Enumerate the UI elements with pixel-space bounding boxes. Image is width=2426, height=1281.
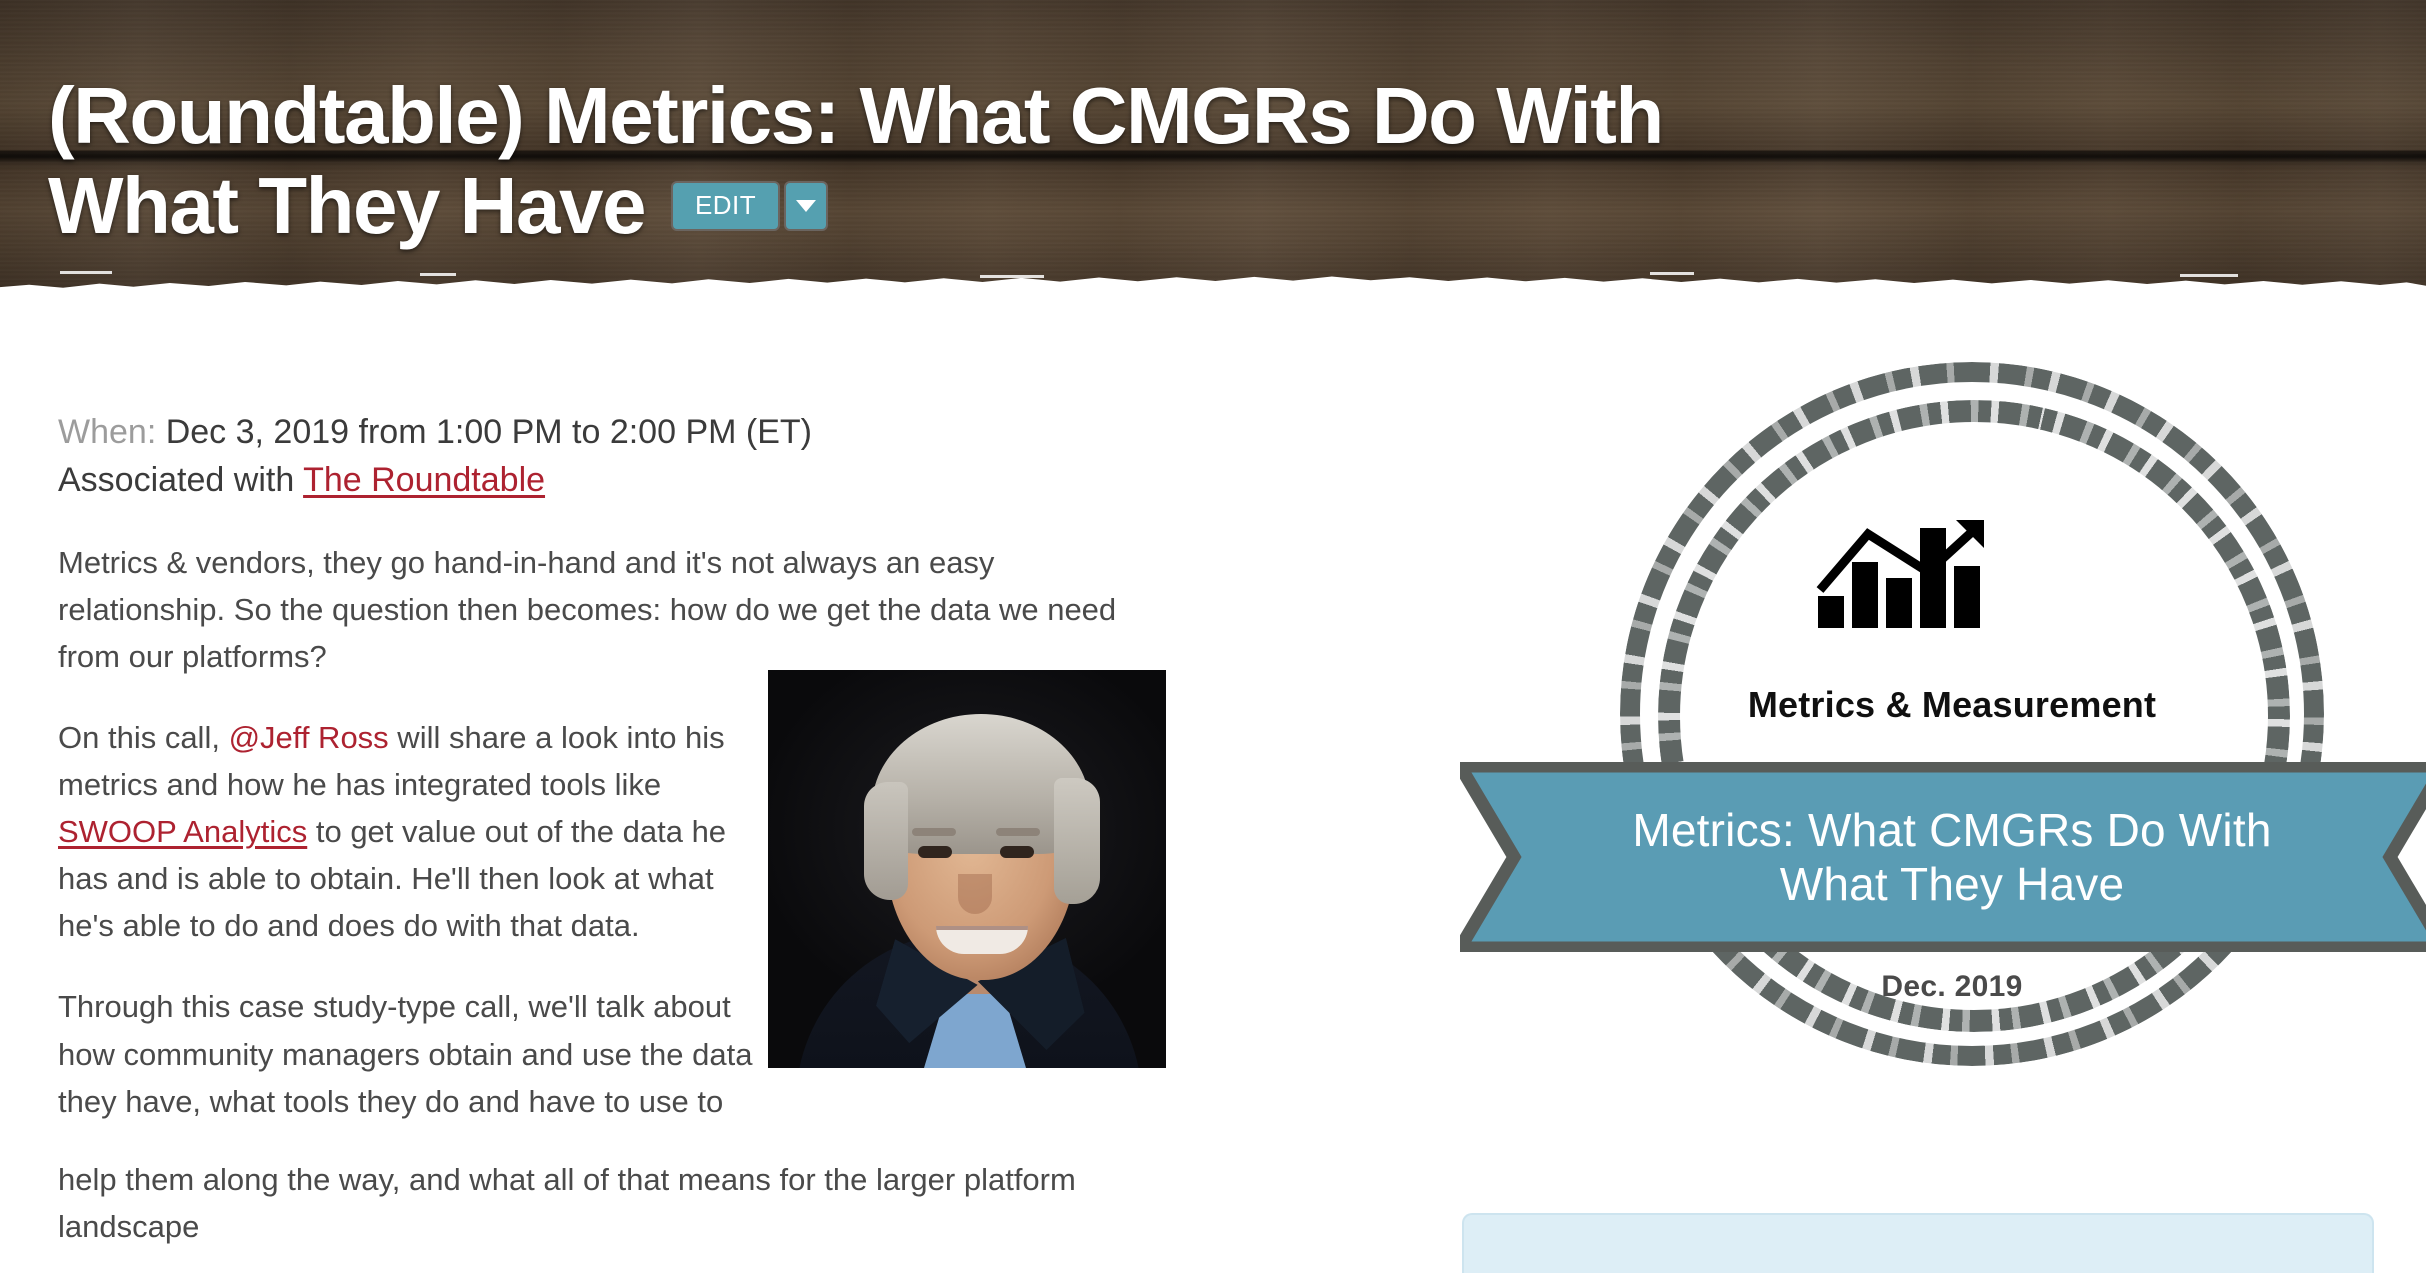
edit-button-group: EDIT — [671, 181, 828, 231]
torn-paper-edge — [0, 266, 2426, 300]
speaker-headshot-image — [768, 670, 1166, 1068]
description-paragraph-4: help them along the way, and what all of… — [58, 1156, 1168, 1250]
page-title-line-1: (Roundtable) Metrics: What CMGRs Do With — [48, 76, 2228, 156]
edit-dropdown-toggle[interactable] — [784, 181, 828, 231]
page-hero-banner: (Roundtable) Metrics: What CMGRs Do With… — [0, 0, 2426, 300]
bar-chart-growth-icon — [1816, 514, 1996, 630]
event-badge-graphic: Metrics & Measurement Metrics: What CMGR… — [1572, 362, 2332, 1152]
para2-text-a: On this call, — [58, 720, 229, 755]
headshot-brow-left — [912, 828, 956, 836]
event-when-label: When: — [58, 413, 156, 451]
page-title: (Roundtable) Metrics: What CMGRs Do With… — [48, 76, 2228, 246]
torn-speck — [420, 273, 456, 276]
bottom-info-panel[interactable] — [1462, 1213, 2374, 1273]
headshot-hair-right — [1054, 778, 1100, 904]
event-when-value: Dec 3, 2019 from 1:00 PM to 2:00 PM (ET) — [166, 413, 812, 451]
badge-date: Dec. 2019 — [1572, 970, 2332, 1004]
edit-button[interactable]: EDIT — [671, 181, 780, 231]
torn-speck — [980, 275, 1044, 278]
headshot-eye-left — [918, 846, 952, 858]
event-when-row: When: Dec 3, 2019 from 1:00 PM to 2:00 P… — [58, 408, 1178, 456]
torn-speck — [1650, 272, 1694, 275]
headshot-hair-left — [864, 782, 908, 900]
headshot-smile — [936, 926, 1028, 954]
description-paragraph-1: Metrics & vendors, they go hand-in-hand … — [58, 539, 1168, 680]
headshot-nose — [958, 874, 992, 914]
badge-ribbon-shape — [1460, 762, 2426, 952]
event-association-row: Associated with The Roundtable — [58, 456, 1178, 504]
torn-speck — [60, 271, 112, 274]
description-paragraph-2: On this call, @Jeff Ross will share a lo… — [58, 714, 758, 950]
badge-heading: Metrics & Measurement — [1572, 684, 2332, 726]
headshot-eye-right — [1000, 846, 1034, 858]
description-paragraph-3: Through this case study-type call, we'll… — [58, 983, 758, 1124]
speaker-mention-link[interactable]: @Jeff Ross — [229, 720, 389, 755]
chevron-down-icon — [796, 200, 816, 212]
event-association-label: Associated with — [58, 461, 294, 499]
swoop-analytics-link[interactable]: SWOOP Analytics — [58, 814, 307, 849]
page-title-line-2-text: What They Have — [48, 161, 645, 250]
page-title-line-2: What They HaveEDIT — [48, 166, 2228, 246]
torn-speck — [2180, 274, 2238, 277]
headshot-brow-right — [996, 828, 1040, 836]
associated-community-link[interactable]: The Roundtable — [303, 461, 545, 499]
